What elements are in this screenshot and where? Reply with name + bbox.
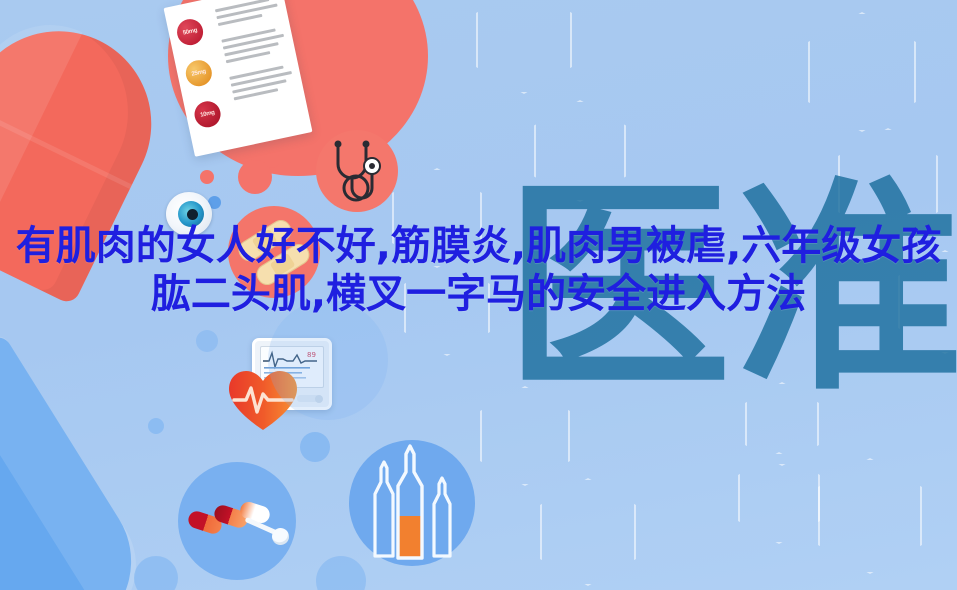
dose-badge: 50mg xyxy=(175,17,206,48)
bubble-dot xyxy=(290,148,316,174)
bubble-dot-blue xyxy=(134,556,178,590)
bubble-dot-blue xyxy=(196,330,218,352)
ampoule-icon xyxy=(349,440,475,566)
dose-badge: 10mg xyxy=(192,99,223,130)
dose-badge: 25mg xyxy=(183,58,214,89)
page-title: 有肌肉的女人好不好,筋膜炎,肌肉男被虐,六年级女孩肱二头肌,横叉一字马的安全进入… xyxy=(0,222,957,318)
bubble-dot xyxy=(264,152,280,168)
document-text-lines xyxy=(215,0,296,104)
bubble-dot-blue xyxy=(148,418,164,434)
capsule-blue-icon xyxy=(0,332,161,590)
capsule-pills-icon xyxy=(178,462,296,580)
bubble-dot-blue xyxy=(300,432,330,462)
bubble-glow xyxy=(268,300,388,420)
banner-stage: 医准 50mg 25mg 10mg xyxy=(0,0,957,590)
stethoscope-icon xyxy=(316,130,398,212)
bubble-dot xyxy=(200,170,214,184)
